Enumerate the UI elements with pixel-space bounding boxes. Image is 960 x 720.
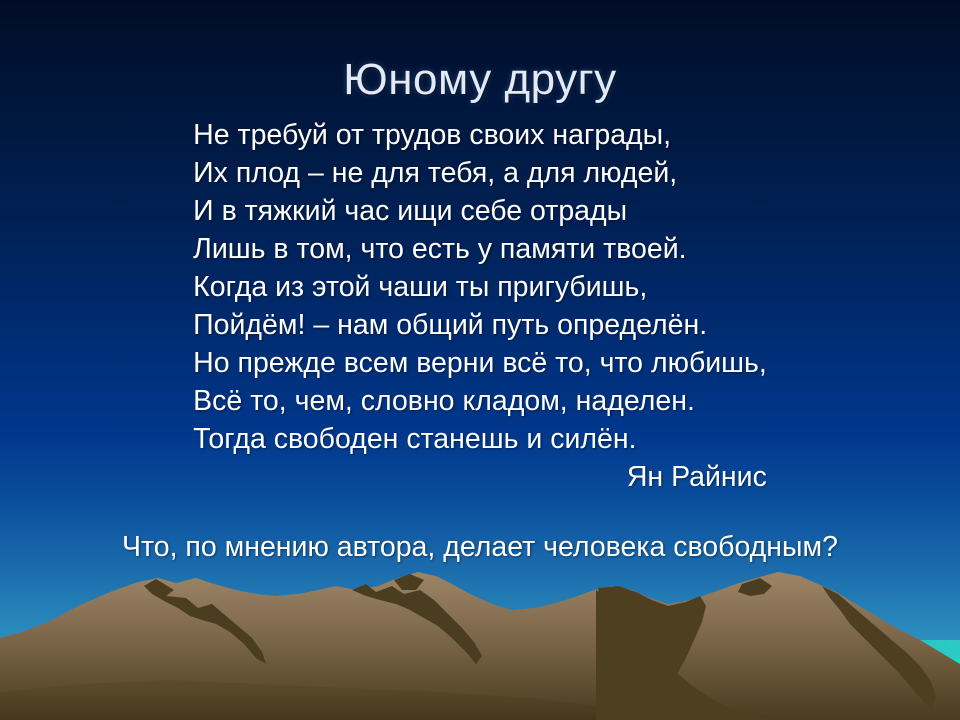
- slide-content: Юному другу Не требуй от трудов своих на…: [0, 0, 960, 720]
- poem-line: Тогда свободен станешь и силён.: [193, 420, 767, 458]
- slide-canvas: Юному другу Не требуй от трудов своих на…: [0, 0, 960, 720]
- poem-author-attribution: Ян Райнис: [193, 458, 767, 496]
- poem-lines: Не требуй от трудов своих награды, Их пл…: [193, 116, 767, 496]
- poem-line: И в тяжкий час ищи себе отрады: [193, 192, 767, 230]
- poem-line: Не требуй от трудов своих награды,: [193, 116, 767, 154]
- poem-line: Но прежде всем верни всё то, что любишь,: [193, 344, 767, 382]
- poem-line: Лишь в том, что есть у памяти твоей.: [193, 230, 767, 268]
- poem-block: Не требуй от трудов своих награды, Их пл…: [0, 116, 960, 496]
- poem-line: Их плод – не для тебя, а для людей,: [193, 154, 767, 192]
- poem-line: Пойдём! – нам общий путь определён.: [193, 306, 767, 344]
- slide-title: Юному другу: [0, 55, 960, 105]
- discussion-question: Что, по мнению автора, делает человека с…: [0, 528, 960, 566]
- poem-line: Когда из этой чаши ты пригубишь,: [193, 268, 767, 306]
- poem-line: Всё то, чем, словно кладом, наделен.: [193, 382, 767, 420]
